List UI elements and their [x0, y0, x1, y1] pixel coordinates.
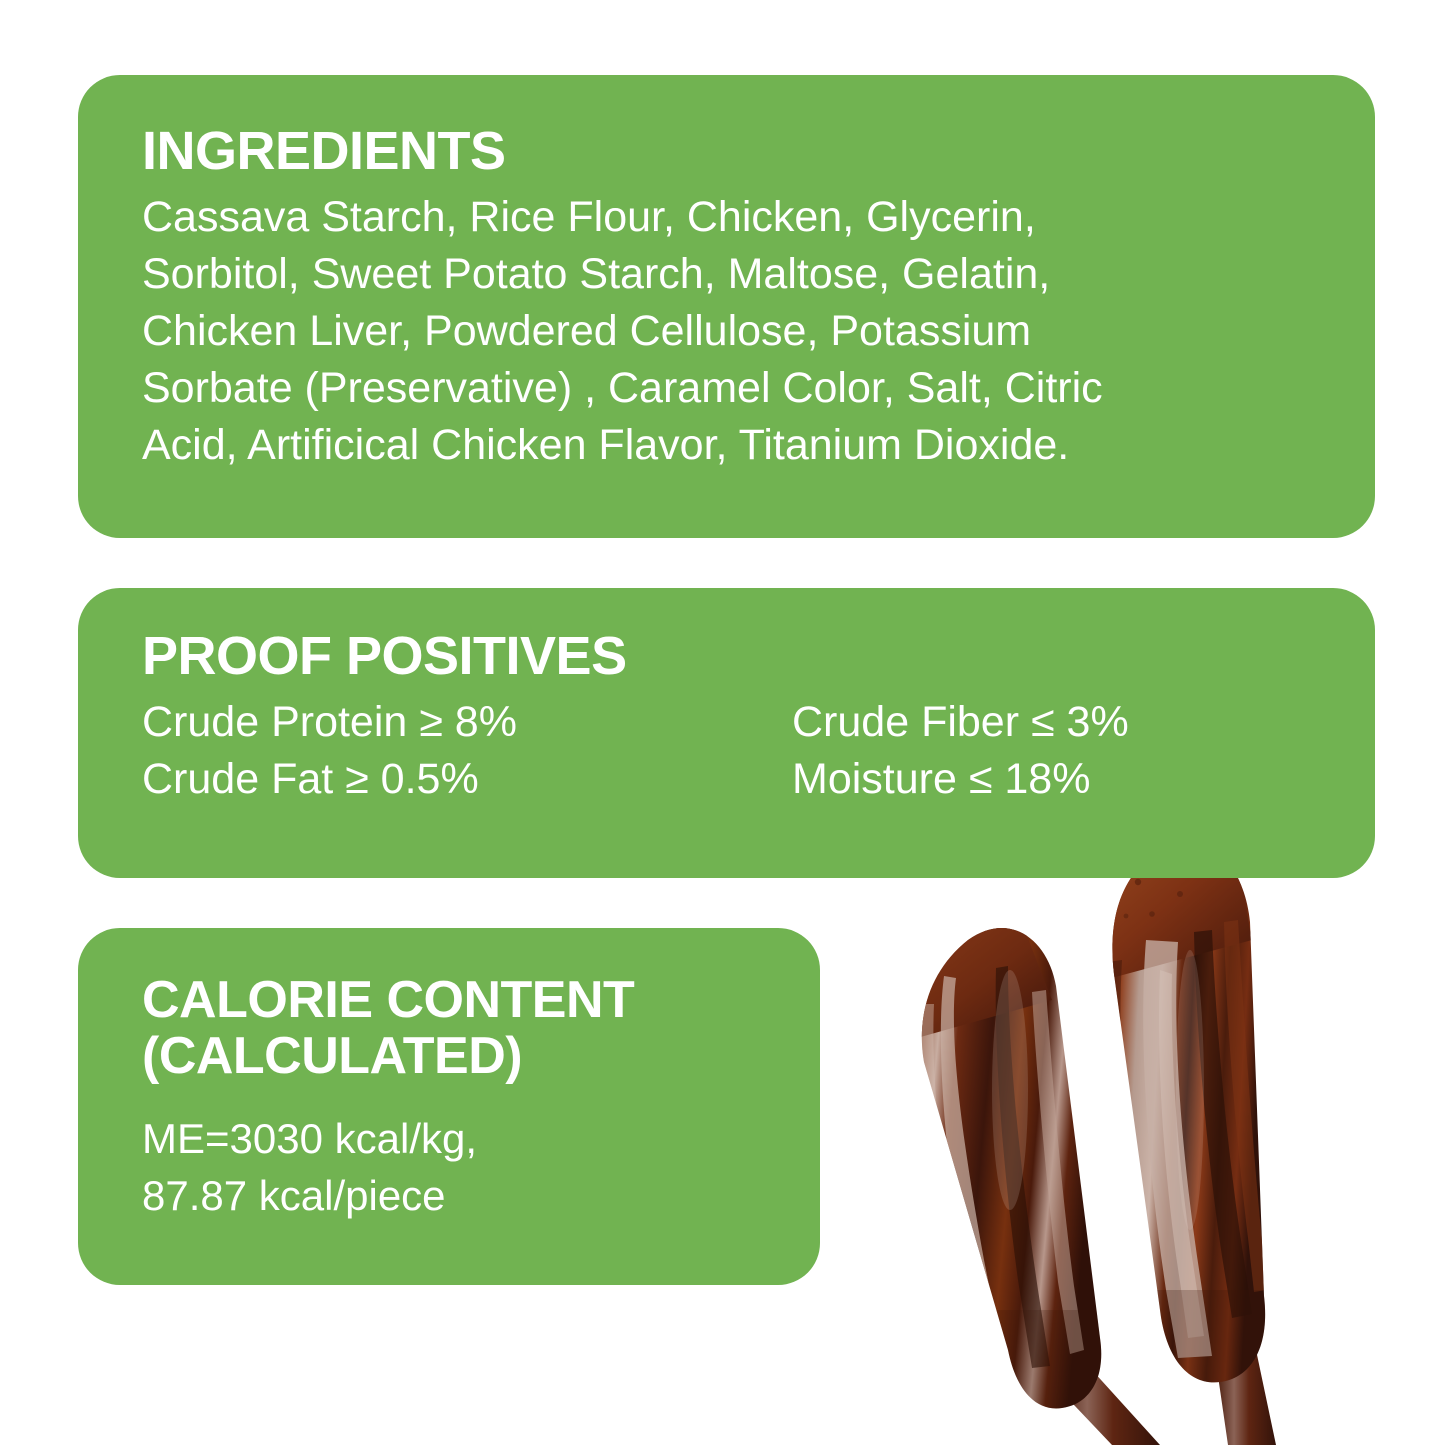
- proof-crude-fat: Crude Fat ≥ 0.5%: [142, 751, 792, 808]
- proof-crude-fiber: Crude Fiber ≤ 3%: [792, 694, 1329, 751]
- proof-positives-title: PROOF POSITIVES: [142, 628, 1329, 684]
- calorie-content-panel: CALORIE CONTENT (CALCULATED) ME=3030 kca…: [78, 928, 820, 1285]
- proof-positives-grid: Crude Protein ≥ 8% Crude Fiber ≤ 3% Crud…: [142, 694, 1329, 808]
- calorie-content-title: CALORIE CONTENT (CALCULATED): [142, 972, 780, 1084]
- proof-moisture: Moisture ≤ 18%: [792, 751, 1329, 808]
- ingredients-panel: INGREDIENTS Cassava Starch, Rice Flour, …: [78, 75, 1375, 538]
- calorie-content-values: ME=3030 kcal/kg, 87.87 kcal/piece: [142, 1110, 780, 1224]
- dog-treat-sticks-photo: [860, 790, 1445, 1445]
- product-label-canvas: INGREDIENTS Cassava Starch, Rice Flour, …: [0, 0, 1445, 1445]
- ingredients-title: INGREDIENTS: [142, 123, 1329, 179]
- ingredients-list: Cassava Starch, Rice Flour, Chicken, Gly…: [142, 189, 1329, 474]
- proof-positives-panel: PROOF POSITIVES Crude Protein ≥ 8% Crude…: [78, 588, 1375, 878]
- proof-crude-protein: Crude Protein ≥ 8%: [142, 694, 792, 751]
